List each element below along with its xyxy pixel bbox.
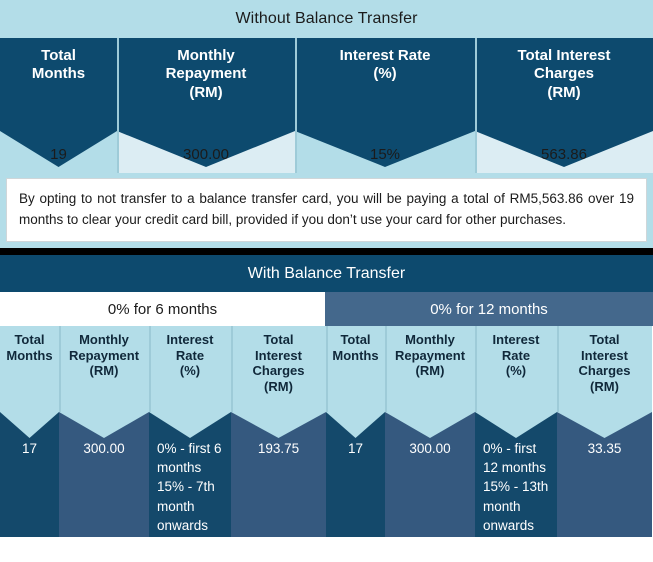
without-balance-transfer-section: Without Balance Transfer TotalMonths 19 …: [0, 0, 653, 248]
column-divider: [385, 326, 387, 412]
column-header-monthly-repayment: MonthlyRepayment(RM): [117, 38, 295, 131]
column-divider: [149, 326, 151, 412]
tab-0-percent-6-months[interactable]: 0% for 6 months: [0, 292, 325, 326]
column-divider: [475, 326, 477, 412]
value-total-months: 19: [0, 146, 117, 163]
column-header-interest-rate: InterestRate(%): [149, 326, 231, 412]
column-interest-rate-6mo: InterestRate(%) 0% - first 6 months 15% …: [149, 326, 231, 537]
column-total-interest-charges-12mo: TotalInterestCharges(RM) 33.35: [557, 326, 652, 537]
value-interest-rate: 15%: [295, 146, 475, 163]
column-total-months-12mo: TotalMonths 17: [326, 326, 385, 537]
column-divider: [117, 38, 119, 173]
description-container: By opting to not transfer to a balance t…: [0, 173, 653, 248]
value-interest-rate: 0% - first 12 months 15% - 13th month on…: [475, 439, 557, 535]
column-monthly-repayment-12mo: MonthlyRepayment(RM) 300.00: [385, 326, 475, 537]
column-header-total-interest-charges: TotalInterestCharges(RM): [231, 326, 326, 412]
section-divider-bar: [0, 248, 653, 255]
column-divider: [557, 326, 559, 412]
column-divider: [326, 326, 328, 412]
column-header-monthly-repayment: MonthlyRepayment(RM): [59, 326, 149, 412]
value-monthly-repayment: 300.00: [59, 439, 149, 458]
column-total-interest-charges: Total InterestCharges(RM) 563.86: [475, 38, 653, 173]
value-total-interest-charges: 193.75: [231, 439, 326, 458]
without-balance-transfer-table: TotalMonths 19 MonthlyRepayment(RM) 300.…: [0, 38, 653, 173]
column-header-total-interest-charges: Total InterestCharges(RM): [475, 38, 653, 131]
column-divider: [231, 326, 233, 412]
column-header-total-interest-charges: TotalInterestCharges(RM): [557, 326, 652, 412]
column-header-total-months: TotalMonths: [326, 326, 385, 412]
column-header-total-months: TotalMonths: [0, 38, 117, 131]
column-header-monthly-repayment: MonthlyRepayment(RM): [385, 326, 475, 412]
column-header-total-months: TotalMonths: [0, 326, 59, 412]
tab-0-percent-12-months[interactable]: 0% for 12 months: [325, 292, 653, 326]
description-text: By opting to not transfer to a balance t…: [6, 178, 647, 242]
column-header-interest-rate: Interest Rate(%): [295, 38, 475, 131]
column-header-interest-rate: InterestRate(%): [475, 326, 557, 412]
value-total-interest-charges: 563.86: [475, 146, 653, 163]
without-section-title: Without Balance Transfer: [0, 0, 653, 38]
with-balance-transfer-table: TotalMonths 17 MonthlyRepayment(RM) 300.…: [0, 326, 653, 537]
value-monthly-repayment: 300.00: [385, 439, 475, 458]
column-interest-rate: Interest Rate(%) 15%: [295, 38, 475, 173]
value-total-months: 17: [0, 439, 59, 458]
column-monthly-repayment-6mo: MonthlyRepayment(RM) 300.00: [59, 326, 149, 537]
value-interest-rate: 0% - first 6 months 15% - 7th month onwa…: [149, 439, 231, 535]
column-divider: [475, 38, 477, 173]
value-total-months: 17: [326, 439, 385, 458]
balance-transfer-tabs: 0% for 6 months 0% for 12 months: [0, 292, 653, 326]
column-total-interest-charges-6mo: TotalInterestCharges(RM) 193.75: [231, 326, 326, 537]
value-monthly-repayment: 300.00: [117, 146, 295, 163]
with-balance-transfer-section: With Balance Transfer 0% for 6 months 0%…: [0, 255, 653, 537]
with-section-title: With Balance Transfer: [0, 255, 653, 292]
column-divider: [59, 326, 61, 412]
column-interest-rate-12mo: InterestRate(%) 0% - first 12 months 15%…: [475, 326, 557, 537]
column-total-months-6mo: TotalMonths 17: [0, 326, 59, 537]
column-divider: [295, 38, 297, 173]
value-total-interest-charges: 33.35: [557, 439, 652, 458]
column-monthly-repayment: MonthlyRepayment(RM) 300.00: [117, 38, 295, 173]
column-total-months: TotalMonths 19: [0, 38, 117, 173]
